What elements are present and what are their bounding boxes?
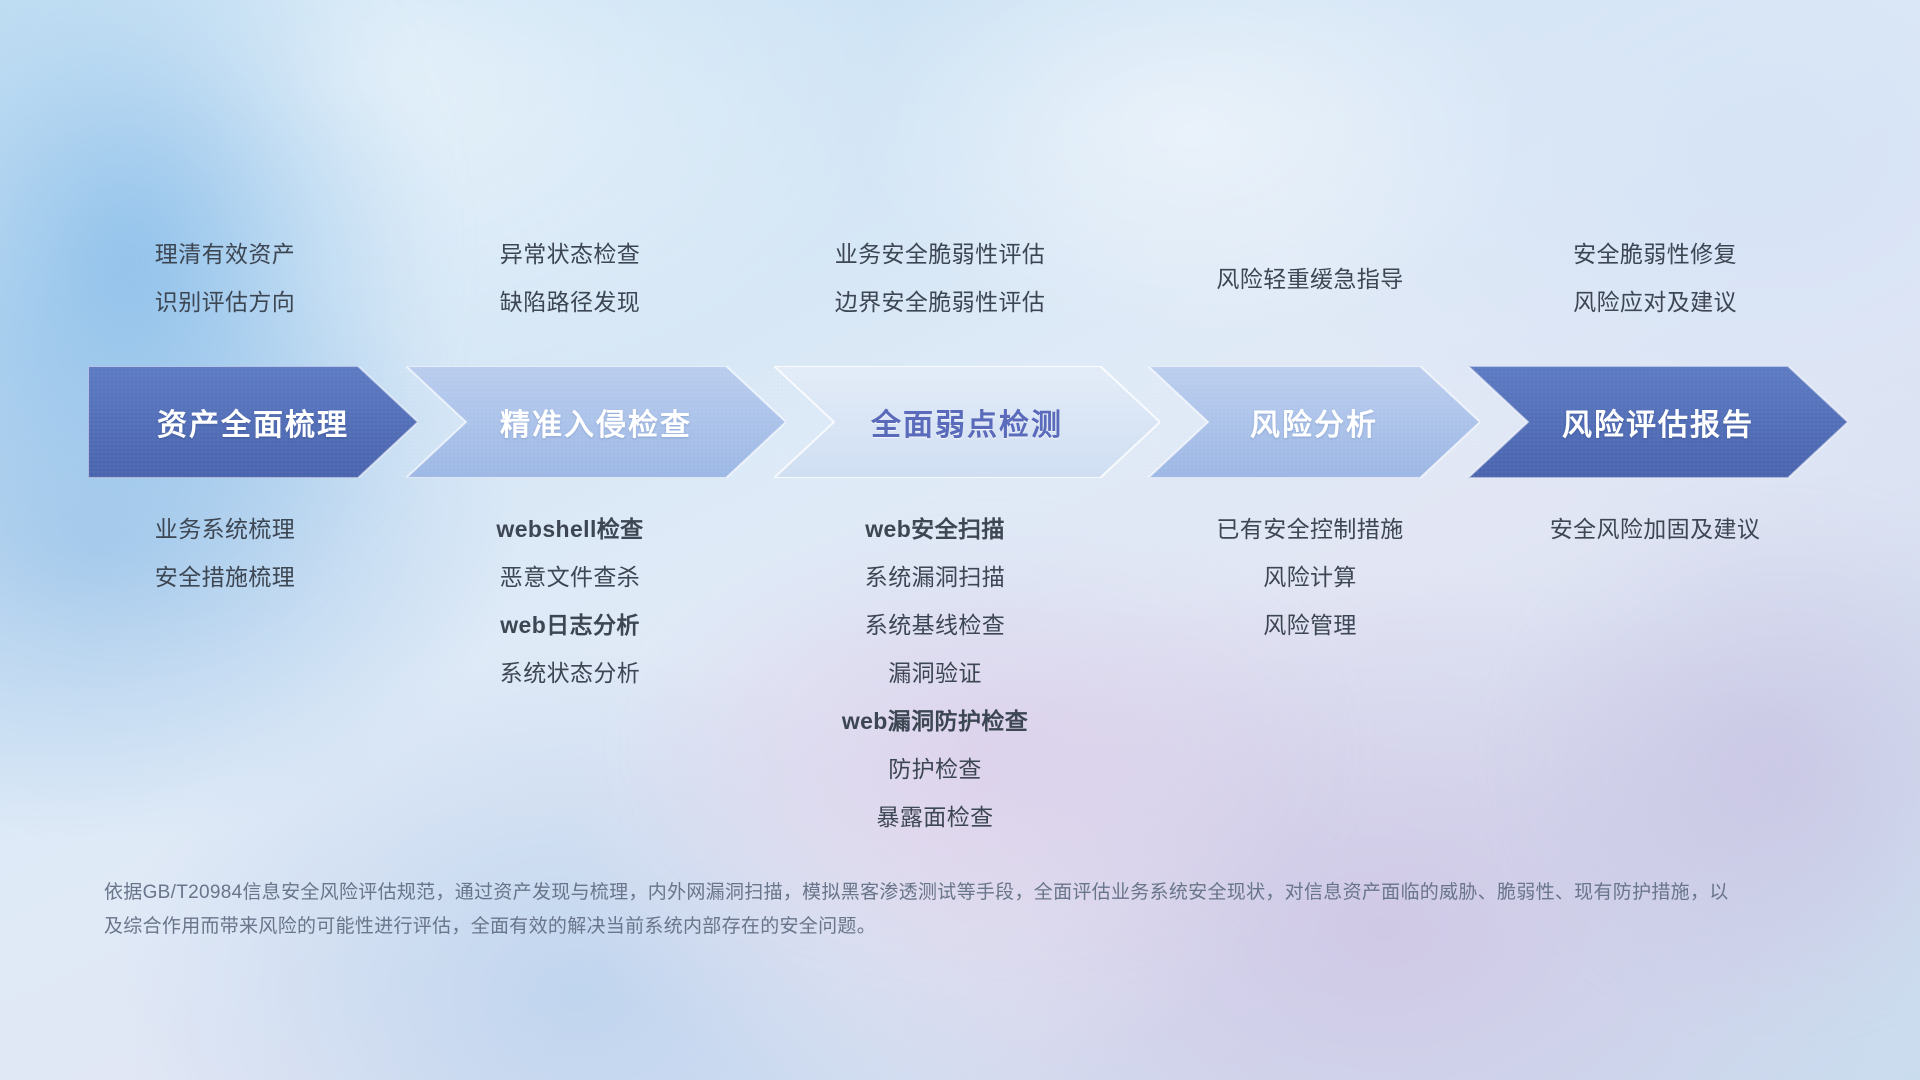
stage-3-bottom-item-4: 漏洞验证: [810, 662, 1060, 685]
chevron-stage-3-label: 全面弱点检测: [871, 400, 1063, 444]
stage-1-bottom-items: 业务系统梳理 安全措施梳理: [115, 518, 335, 589]
footnote-paragraph: 依据GB/T20984信息安全风险评估规范，通过资产发现与梳理，内外网漏洞扫描，…: [104, 876, 1744, 944]
stage-5-top-item-1: 安全脆弱性修复: [1545, 243, 1765, 266]
stage-1-top-item-1: 理清有效资产: [115, 243, 335, 266]
stage-4-top-item-1: 风险轻重缓急指导: [1175, 268, 1445, 291]
chevron-stage-5-label: 风险评估报告: [1562, 400, 1754, 444]
stage-4-bottom-item-1: 已有安全控制措施: [1185, 518, 1435, 541]
stage-2-top-items: 异常状态检查 缺陷路径发现: [460, 243, 680, 314]
stage-2-top-item-1: 异常状态检查: [460, 243, 680, 266]
stage-4-bottom-items: 已有安全控制措施 风险计算 风险管理: [1185, 518, 1435, 637]
stage-5-bottom-items: 安全风险加固及建议: [1530, 518, 1780, 541]
stage-1-top-items: 理清有效资产 识别评估方向: [115, 243, 335, 314]
stage-3-bottom-item-3: 系统基线检查: [810, 614, 1060, 637]
stage-1-bottom-item-2: 安全措施梳理: [115, 566, 335, 589]
stage-3-bottom-item-2: 系统漏洞扫描: [810, 566, 1060, 589]
stage-2-bottom-item-2: 恶意文件查杀: [460, 566, 680, 589]
diagram-content: 理清有效资产 识别评估方向 异常状态检查 缺陷路径发现 业务安全脆弱性评估 边界…: [0, 0, 1920, 1080]
stage-4-top-items: 风险轻重缓急指导: [1175, 268, 1445, 291]
stage-3-bottom-item-5: web漏洞防护检查: [810, 710, 1060, 733]
chevron-stage-4[interactable]: 风险分析: [1148, 366, 1480, 478]
stage-3-bottom-items: web安全扫描 系统漏洞扫描 系统基线检查 漏洞验证 web漏洞防护检查 防护检…: [810, 518, 1060, 829]
stage-1-top-item-2: 识别评估方向: [115, 291, 335, 314]
stage-2-bottom-item-1: webshell检查: [460, 518, 680, 541]
stage-2-bottom-item-3: web日志分析: [460, 614, 680, 637]
stage-3-bottom-item-6: 防护检查: [810, 758, 1060, 781]
stage-3-top-item-1: 业务安全脆弱性评估: [795, 243, 1085, 266]
chevron-stage-2[interactable]: 精准入侵检查: [406, 366, 786, 478]
chevron-stage-3[interactable]: 全面弱点检测: [774, 366, 1160, 478]
stage-3-top-item-2: 边界安全脆弱性评估: [795, 291, 1085, 314]
chevron-stage-1[interactable]: 资产全面梳理: [88, 366, 418, 478]
stage-5-top-items: 安全脆弱性修复 风险应对及建议: [1545, 243, 1765, 314]
stage-1-bottom-item-1: 业务系统梳理: [115, 518, 335, 541]
stage-4-bottom-item-3: 风险管理: [1185, 614, 1435, 637]
stage-4-bottom-item-2: 风险计算: [1185, 566, 1435, 589]
slide-canvas: 理清有效资产 识别评估方向 异常状态检查 缺陷路径发现 业务安全脆弱性评估 边界…: [0, 0, 1920, 1080]
stage-2-bottom-item-4: 系统状态分析: [460, 662, 680, 685]
stage-2-top-item-2: 缺陷路径发现: [460, 291, 680, 314]
chevron-stage-4-label: 风险分析: [1250, 400, 1378, 444]
chevron-stage-2-label: 精准入侵检查: [500, 400, 692, 444]
stage-5-bottom-item-1: 安全风险加固及建议: [1530, 518, 1780, 541]
stage-2-bottom-items: webshell检查 恶意文件查杀 web日志分析 系统状态分析: [460, 518, 680, 685]
stage-3-bottom-item-1: web安全扫描: [810, 518, 1060, 541]
stage-3-top-items: 业务安全脆弱性评估 边界安全脆弱性评估: [795, 243, 1085, 314]
chevron-stage-5[interactable]: 风险评估报告: [1468, 366, 1848, 478]
process-chevron-band: 风险评估报告 风险分析: [88, 366, 1848, 478]
chevron-stage-1-label: 资产全面梳理: [157, 400, 349, 444]
stage-3-bottom-item-7: 暴露面检查: [810, 806, 1060, 829]
stage-5-top-item-2: 风险应对及建议: [1545, 291, 1765, 314]
